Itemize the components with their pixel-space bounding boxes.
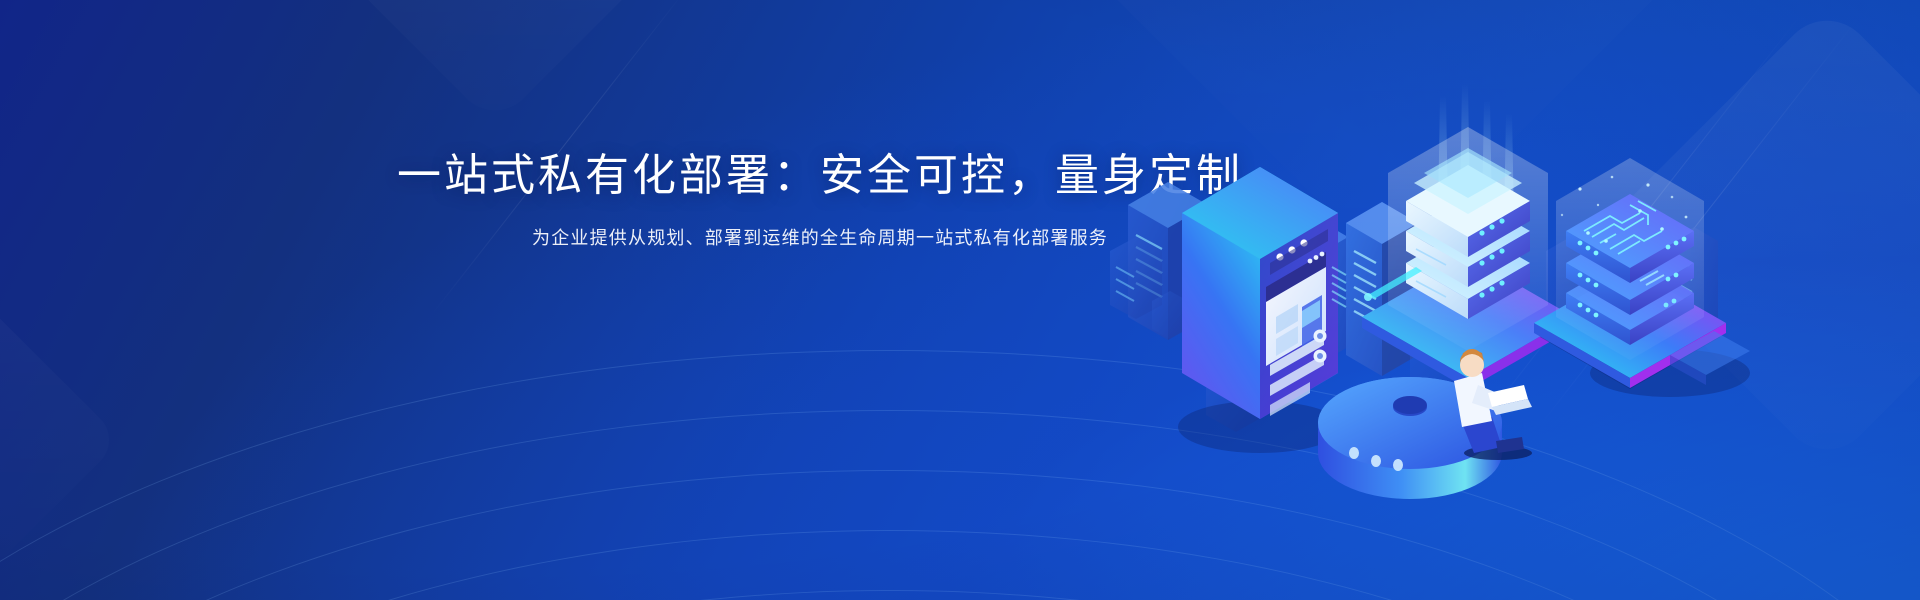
diamond-shape-top	[318, 0, 672, 127]
hero-illustration	[1110, 55, 1750, 495]
diamond-shape-left	[0, 299, 121, 582]
hero-banner: 一站式私有化部署：安全可控，量身定制 为企业提供从规划、部署到运维的全生命周期一…	[0, 0, 1920, 600]
stacked-server-center	[1362, 83, 1574, 389]
server-cabinet-left	[1182, 167, 1346, 419]
